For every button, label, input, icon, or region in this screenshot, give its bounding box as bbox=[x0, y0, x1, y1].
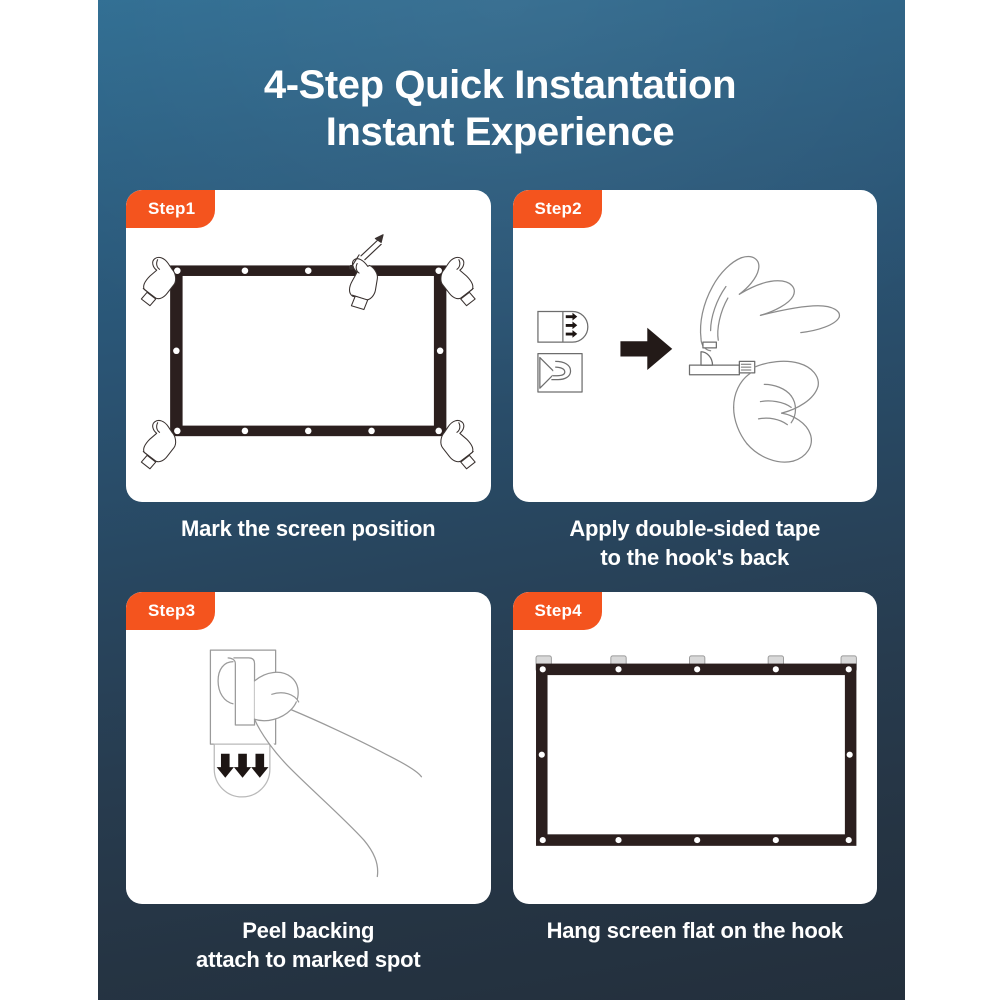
step-2-card-body: Step2 bbox=[513, 190, 878, 502]
step-1-card-body: Step1 bbox=[126, 190, 491, 502]
step-4-caption-line-1: Hang screen flat on the hook bbox=[513, 917, 878, 946]
page-title: 4-Step Quick Instantation Instant Experi… bbox=[0, 62, 1000, 156]
step-card-4: Step4 bbox=[513, 592, 878, 974]
step-2-caption-line-1: Apply double-sided tape bbox=[513, 515, 878, 544]
step-card-3: Step3 bbox=[126, 592, 491, 974]
screen-frame-hung-icon bbox=[536, 664, 856, 846]
steps-grid: Step1 bbox=[98, 190, 905, 974]
step-4-card-body: Step4 bbox=[513, 592, 878, 904]
step-card-1: Step1 bbox=[126, 190, 491, 572]
step-3-caption-line-1: Peel backing bbox=[126, 917, 491, 946]
step-3-card-body: Step3 bbox=[126, 592, 491, 904]
screen-frame-icon bbox=[170, 265, 446, 436]
step-1-caption-line-1: Mark the screen position bbox=[126, 515, 491, 544]
step-3-badge: Step3 bbox=[126, 592, 215, 630]
step-3-caption-line-2: attach to marked spot bbox=[126, 946, 491, 975]
step-card-2: Step2 bbox=[513, 190, 878, 572]
wall-hook-icon bbox=[537, 354, 581, 392]
step-2-illustration bbox=[513, 190, 878, 502]
step-4-caption: Hang screen flat on the hook bbox=[513, 917, 878, 946]
step-1-caption: Mark the screen position bbox=[126, 515, 491, 544]
peel-direction-arrows-icon bbox=[217, 754, 269, 778]
title-line-1: 4-Step Quick Instantation bbox=[0, 62, 1000, 109]
step-3-illustration bbox=[126, 592, 491, 904]
step-2-caption: Apply double-sided tape to the hook's ba… bbox=[513, 515, 878, 572]
step-1-illustration bbox=[126, 190, 491, 502]
step-4-illustration bbox=[513, 592, 878, 904]
step-2-caption-line-2: to the hook's back bbox=[513, 544, 878, 573]
step-1-badge: Step1 bbox=[126, 190, 215, 228]
title-line-2: Instant Experience bbox=[0, 109, 1000, 156]
infographic-root: 4-Step Quick Instantation Instant Experi… bbox=[0, 0, 1000, 1000]
hands-applying-tape-icon bbox=[689, 257, 839, 463]
tape-peel-arrows-icon bbox=[565, 313, 577, 338]
step-4-badge: Step4 bbox=[513, 592, 602, 630]
double-sided-tape-icon bbox=[537, 311, 587, 342]
right-arrow-icon bbox=[620, 328, 672, 370]
step-2-badge: Step2 bbox=[513, 190, 602, 228]
step-3-caption: Peel backing attach to marked spot bbox=[126, 917, 491, 974]
finger-pressing-icon bbox=[255, 672, 422, 876]
